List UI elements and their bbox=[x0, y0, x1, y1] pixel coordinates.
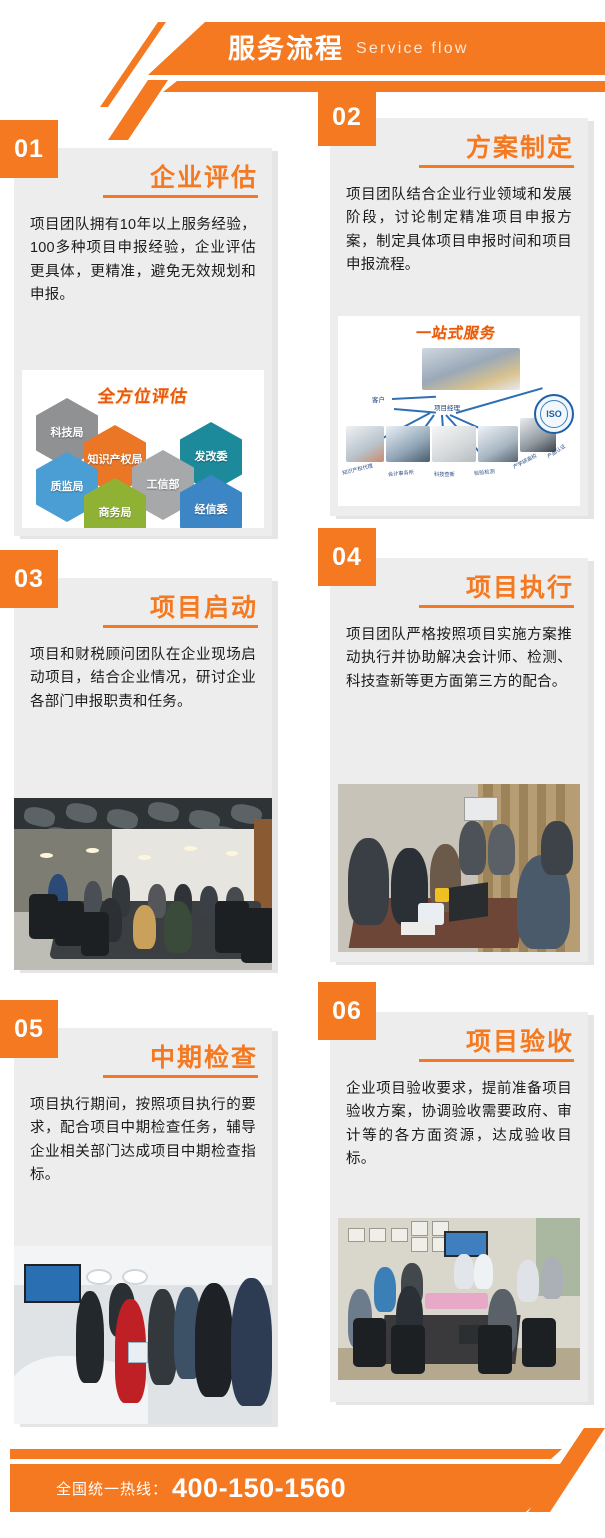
one-stop-team-photo bbox=[422, 348, 520, 390]
page-footer: 全国统一热线： 400-150-1560 bbox=[0, 1418, 605, 1538]
one-stop-label-accounting: 会计事务所 bbox=[388, 469, 414, 478]
card-title-underline bbox=[103, 195, 258, 198]
card-body-text: 项目团队严格按照项目实施方案推动执行并协助解决会计师、检测、科技查新等更方面第三… bbox=[346, 624, 572, 694]
one-stop-thumb-ip bbox=[346, 426, 384, 462]
hex-node-label: 工信部 bbox=[144, 479, 183, 492]
photo-art bbox=[338, 784, 580, 952]
card-number-badge: 03 bbox=[0, 550, 58, 608]
one-stop-thumb-testing bbox=[478, 426, 518, 462]
one-stop-thumb-accounting bbox=[386, 426, 430, 462]
process-card-02: 02 方案制定 项目团队结合企业行业领域和发展阶段，讨论制定精准项目申报方案，制… bbox=[330, 118, 588, 516]
card-title: 方案制定 bbox=[466, 128, 574, 164]
footer-bar-thin bbox=[10, 1449, 562, 1459]
one-stop-arrow bbox=[456, 387, 543, 414]
one-stop-client-node: 客户 bbox=[372, 394, 385, 404]
card-title: 中期检查 bbox=[150, 1038, 258, 1074]
hexagon-figure-title: 全方位评估 bbox=[96, 382, 190, 407]
card-title: 项目执行 bbox=[466, 568, 574, 604]
process-card-03: 03 项目启动 项目和财税顾问团队在企业现场启动项目，结合企业情况，研讨企业各部… bbox=[14, 578, 272, 970]
card-number-badge: 05 bbox=[0, 1000, 58, 1058]
card-title-underline bbox=[103, 1075, 258, 1078]
process-card-06: 06 项目验收 企业项目验收要求，提前准备项目验收方案，协调验收需要政府、审计等… bbox=[330, 1012, 588, 1402]
card-title-underline bbox=[419, 165, 574, 168]
display-screen bbox=[24, 1264, 81, 1303]
card-body-text: 企业项目验收要求，提前准备项目验收方案，协调验收需要政府、审计等的各方面资源，达… bbox=[346, 1078, 572, 1172]
hex-node-label: 商务局 bbox=[96, 507, 135, 520]
hotline-number: 400-150-1560 bbox=[172, 1473, 346, 1504]
hotline: 全国统一热线： 400-150-1560 bbox=[56, 1464, 346, 1512]
hex-node-label: 科技局 bbox=[48, 427, 87, 440]
one-stop-service-figure: 一站式服务 客户 项目经理 ISO 知识产权代理 会计事务所 科技查新 检验检测… bbox=[338, 316, 580, 506]
one-stop-label-ip: 知识产权代理 bbox=[342, 462, 374, 476]
card-title: 企业评估 bbox=[150, 158, 258, 194]
one-stop-label-testing: 检验检测 bbox=[474, 468, 495, 477]
card-body-text: 项目团队拥有10年以上服务经验，100多种项目申报经验，企业评估更具体，更精准，… bbox=[30, 214, 256, 308]
acceptance-meeting-photo bbox=[338, 1218, 580, 1380]
card-title-underline bbox=[419, 1059, 574, 1062]
photo-art bbox=[14, 1246, 272, 1424]
card-number-badge: 04 bbox=[318, 528, 376, 586]
process-card-01: 01 企业评估 项目团队拥有10年以上服务经验，100多种项目申报经验，企业评估… bbox=[14, 148, 272, 536]
process-card-05: 05 中期检查 项目执行期间，按照项目执行的要求，配合项目中期检查任务，辅导企业… bbox=[14, 1028, 272, 1424]
showroom-visit-photo bbox=[14, 1246, 272, 1424]
hex-node-label: 发改委 bbox=[192, 451, 231, 464]
photo-art bbox=[338, 1218, 580, 1380]
one-stop-figure-title: 一站式服务 bbox=[414, 322, 498, 343]
hex-node-label: 知识产权局 bbox=[85, 454, 146, 467]
one-stop-center-node: 项目经理 bbox=[434, 402, 460, 412]
one-stop-label-search: 科技查新 bbox=[434, 471, 455, 478]
card-title-underline bbox=[103, 625, 258, 628]
meeting-laptops-photo bbox=[338, 784, 580, 952]
card-number-badge: 02 bbox=[318, 88, 376, 146]
assessment-hexagon-figure: 全方位评估 科技局 知识产权局 发改委 质监局 工信部 商务局 经信委 bbox=[22, 370, 264, 528]
card-title: 项目启动 bbox=[150, 588, 258, 624]
one-stop-certification-seal: ISO bbox=[534, 394, 574, 434]
one-stop-arrow bbox=[392, 396, 436, 400]
card-title-underline bbox=[419, 605, 574, 608]
card-number-badge: 06 bbox=[318, 982, 376, 1040]
card-body-text: 项目和财税顾问团队在企业现场启动项目，结合企业情况，研讨企业各部门申报职责和任务… bbox=[30, 644, 256, 714]
hex-node-label: 质监局 bbox=[48, 481, 87, 494]
photo-art bbox=[14, 798, 272, 970]
card-body-text: 项目团队结合企业行业领域和发展阶段，讨论制定精准项目申报方案，制定具体项目申报时… bbox=[346, 184, 572, 278]
presentation-screen bbox=[444, 1231, 488, 1257]
hotline-label: 全国统一热线： bbox=[56, 1478, 168, 1499]
one-stop-thumb-search bbox=[432, 426, 476, 462]
card-title: 项目验收 bbox=[466, 1022, 574, 1058]
card-body-text: 项目执行期间，按照项目执行的要求，配合项目中期检查任务，辅导企业相关部门达成项目… bbox=[30, 1094, 256, 1188]
process-card-04: 04 项目执行 项目团队严格按照项目实施方案推动执行并协助解决会计师、检测、科技… bbox=[330, 558, 588, 962]
conference-room-kickoff-photo bbox=[14, 798, 272, 970]
card-number-badge: 01 bbox=[0, 120, 58, 178]
hex-node-label: 经信委 bbox=[192, 504, 231, 517]
process-card-grid: 01 企业评估 项目团队拥有10年以上服务经验，100多种项目申报经验，企业评估… bbox=[0, 0, 605, 1538]
